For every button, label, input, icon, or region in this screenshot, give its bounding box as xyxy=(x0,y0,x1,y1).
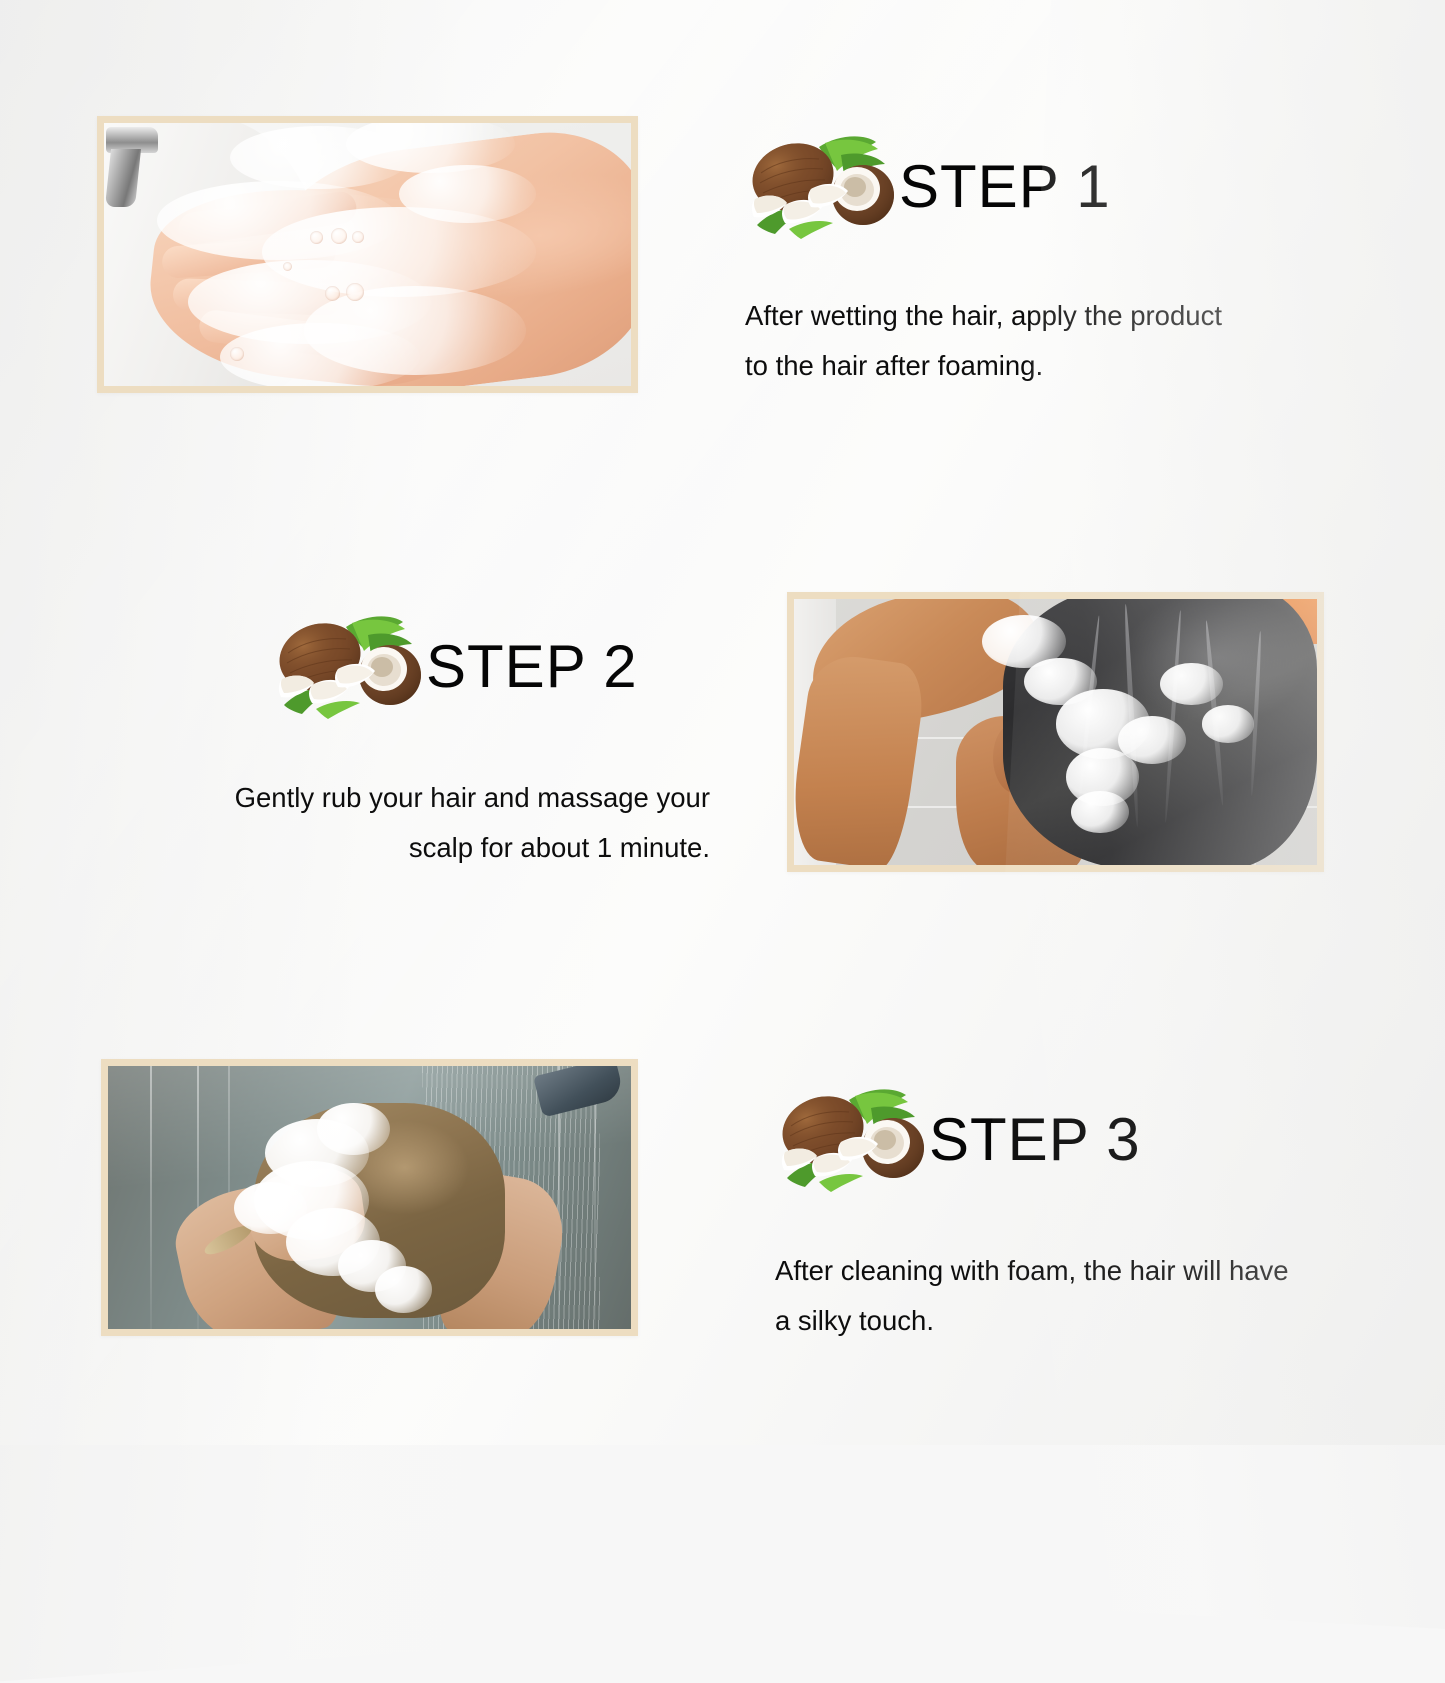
step-1-heading: STEP 1 xyxy=(745,133,1385,241)
photo-content xyxy=(104,123,631,386)
step-2-title: STEP 2 xyxy=(426,637,638,697)
faucet-icon xyxy=(104,127,164,213)
photo-content xyxy=(794,599,1317,865)
washing-dark-hair-photo xyxy=(787,592,1324,872)
step-1-description: After wetting the hair, apply the produc… xyxy=(745,291,1385,391)
step-2-description: Gently rub your hair and massage your sc… xyxy=(112,773,712,873)
step-2-heading: STEP 2 xyxy=(112,613,712,721)
shower-lather-photo xyxy=(101,1059,638,1336)
hands-lathering-foam-photo xyxy=(97,116,638,393)
step-1-title: STEP 1 xyxy=(899,157,1111,217)
step-3-description: After cleaning with foam, the hair will … xyxy=(775,1246,1415,1346)
coconut-icon xyxy=(775,1086,925,1194)
infographic-page: STEP 1 After wetting the hair, apply the… xyxy=(0,0,1445,1445)
coconut-icon xyxy=(272,613,422,721)
step-3-title: STEP 3 xyxy=(929,1110,1141,1170)
step-2-block: STEP 2 Gently rub your hair and massage … xyxy=(112,613,712,873)
step-3-block: STEP 3 After cleaning with foam, the hai… xyxy=(775,1086,1415,1346)
step-1-block: STEP 1 After wetting the hair, apply the… xyxy=(745,133,1385,391)
photo-content xyxy=(108,1066,631,1329)
step-3-heading: STEP 3 xyxy=(775,1086,1415,1194)
coconut-icon xyxy=(745,133,895,241)
